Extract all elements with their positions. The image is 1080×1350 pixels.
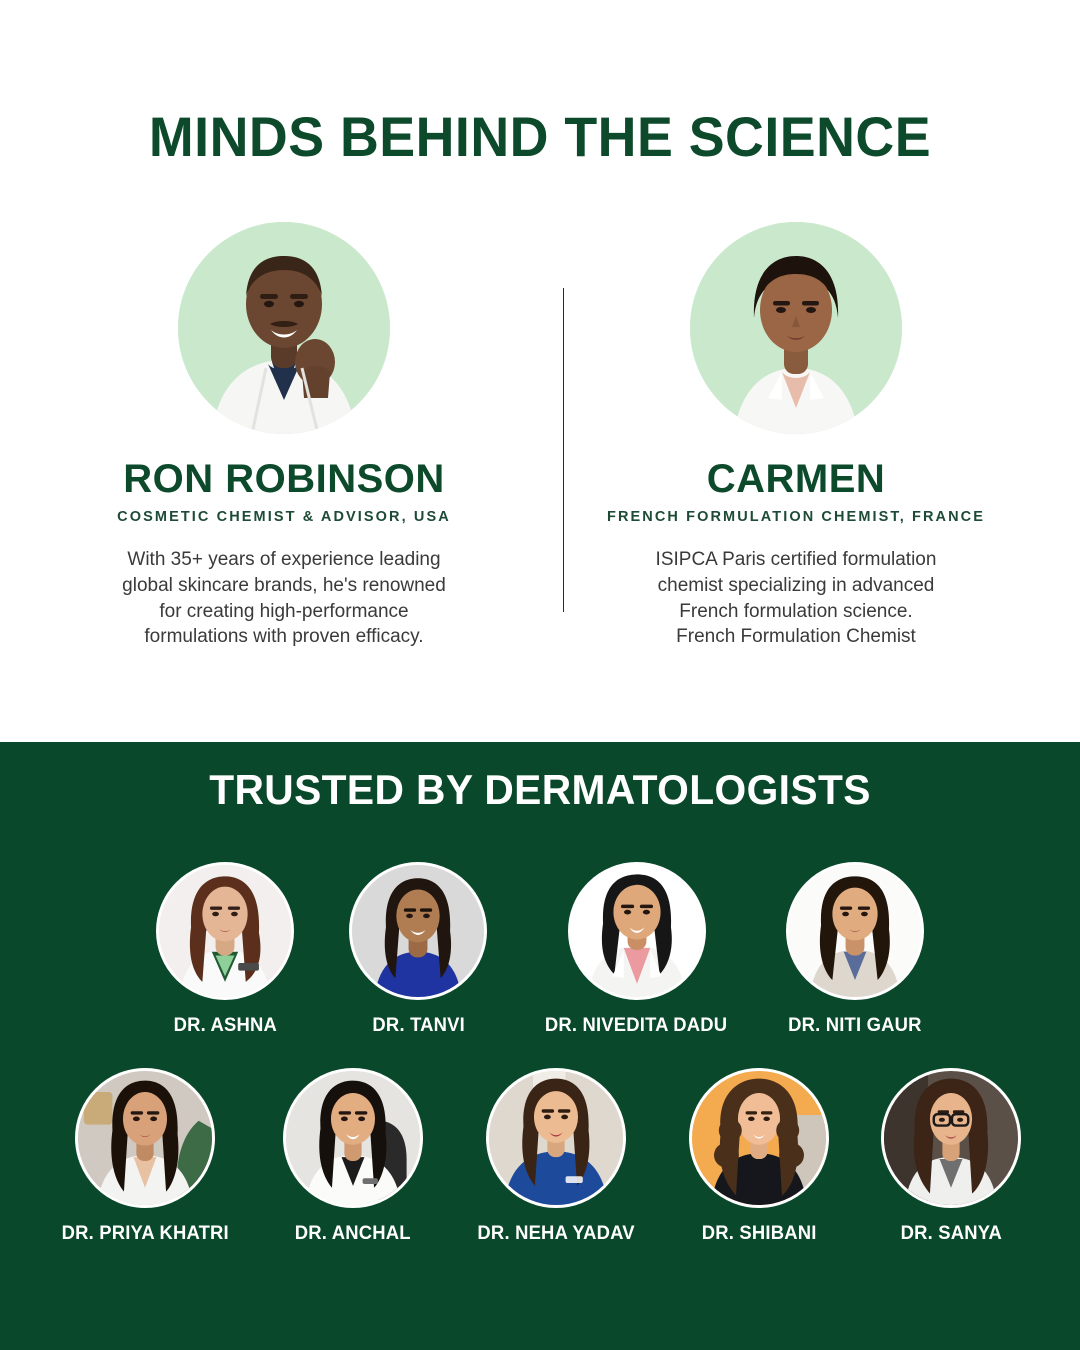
expert-name: CARMEN — [707, 458, 886, 500]
experts-section: MINDS BEHIND THE SCIENCE — [0, 0, 1080, 742]
expert-portrait-ron-robinson — [178, 222, 390, 434]
dermatologists-title: TRUSTED BY DERMATOLOGISTS — [16, 766, 1064, 814]
dermatologist-name: DR. TANVI — [372, 1015, 465, 1037]
dermatologists-section — [0, 742, 1080, 1350]
expert-role: COSMETIC CHEMIST & ADVISOR, USA — [117, 509, 451, 525]
expert-card-carmen: CARMEN FRENCH FORMULATION CHEMIST, FRANC… — [540, 222, 1040, 650]
dermatologist-card[interactable]: DR. NEHA YADAV — [475, 1068, 637, 1245]
dermatologist-name: DR. SHIBANI — [702, 1223, 817, 1245]
dermatologist-avatar — [349, 862, 487, 1000]
dermatologist-name: DR. ANCHAL — [295, 1223, 411, 1245]
dermatologist-avatar — [75, 1068, 215, 1208]
dermatologist-card[interactable]: DR. ASHNA — [156, 862, 294, 1037]
dermatologist-card[interactable]: DR. NIVEDITA DADU — [542, 862, 730, 1037]
dermatologist-name: DR. NITI GAUR — [788, 1015, 922, 1037]
dermatologist-card[interactable]: DR. SANYA — [881, 1068, 1021, 1245]
dermatologist-avatar — [786, 862, 924, 1000]
dermatologist-name: DR. NEHA YADAV — [478, 1223, 635, 1245]
dermatologist-card[interactable]: DR. NITI GAUR — [786, 862, 924, 1037]
expert-portrait-carmen — [690, 222, 902, 434]
dermatologist-avatar — [283, 1068, 423, 1208]
dermatologist-name: DR. PRIYA KHATRI — [61, 1223, 228, 1245]
expert-name: RON ROBINSON — [123, 458, 445, 500]
expert-role: FRENCH FORMULATION CHEMIST, FRANCE — [607, 509, 985, 525]
expert-bio: ISIPCA Paris certified formulation chemi… — [656, 547, 937, 650]
expert-card-ron-robinson: RON ROBINSON COSMETIC CHEMIST & ADVISOR,… — [40, 222, 540, 650]
dermatologist-name: DR. ASHNA — [174, 1015, 277, 1037]
dermatologist-avatar — [568, 862, 706, 1000]
dermatologist-card[interactable]: DR. PRIYA KHATRI — [59, 1068, 231, 1245]
dermatologist-card[interactable]: DR. SHIBANI — [689, 1068, 829, 1245]
dermatologist-card[interactable]: DR. ANCHAL — [283, 1068, 423, 1245]
promo-page: MINDS BEHIND THE SCIENCE — [0, 0, 1080, 1350]
page-title: MINDS BEHIND THE SCIENCE — [22, 104, 1059, 169]
dermatologists-row-2: DR. PRIYA KHATRI — [0, 1068, 1080, 1245]
dermatologists-row-1: DR. ASHNA DR. TANVI — [0, 862, 1080, 1037]
expert-bio: With 35+ years of experience leading glo… — [122, 547, 446, 650]
dermatologist-avatar — [689, 1068, 829, 1208]
dermatologist-name: DR. SANYA — [901, 1223, 1002, 1245]
dermatologist-name: DR. NIVEDITA DADU — [545, 1015, 727, 1037]
experts-row: RON ROBINSON COSMETIC CHEMIST & ADVISOR,… — [0, 222, 1080, 650]
dermatologist-avatar — [156, 862, 294, 1000]
dermatologist-avatar — [881, 1068, 1021, 1208]
dermatologist-card[interactable]: DR. TANVI — [349, 862, 487, 1037]
dermatologist-avatar — [486, 1068, 626, 1208]
